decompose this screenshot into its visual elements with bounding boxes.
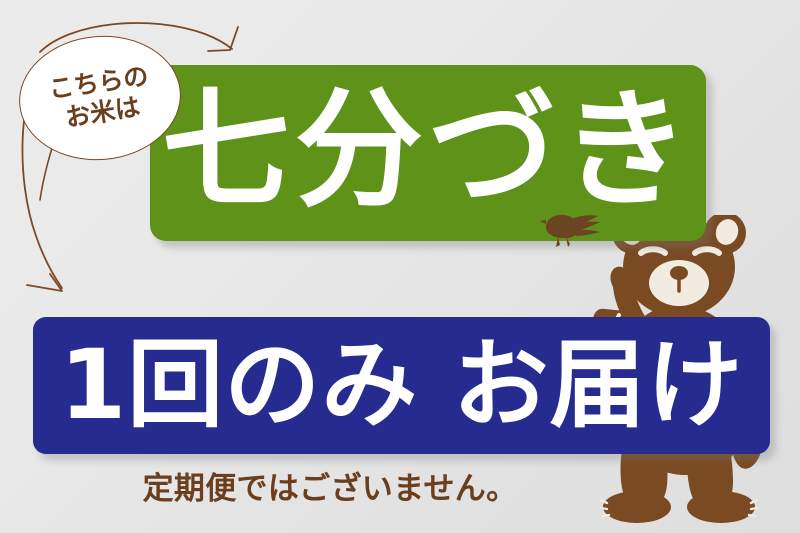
delivery-frequency-label: 1回のみ お届け — [60, 337, 744, 433]
bird-icon — [540, 203, 604, 251]
subscription-disclaimer-caption: 定期便ではございません。 — [0, 463, 660, 508]
rice-polish-grade-banner: 七分づき — [150, 65, 706, 241]
speech-bubble: こちらの お米は — [14, 29, 186, 167]
promo-banner-image: 七分づき 1回のみ お届け こちらの お米は 定期便ではございません。 — [0, 0, 800, 533]
delivery-frequency-banner: 1回のみ お届け — [33, 317, 770, 454]
rice-polish-grade-label: 七分づき — [162, 87, 694, 215]
